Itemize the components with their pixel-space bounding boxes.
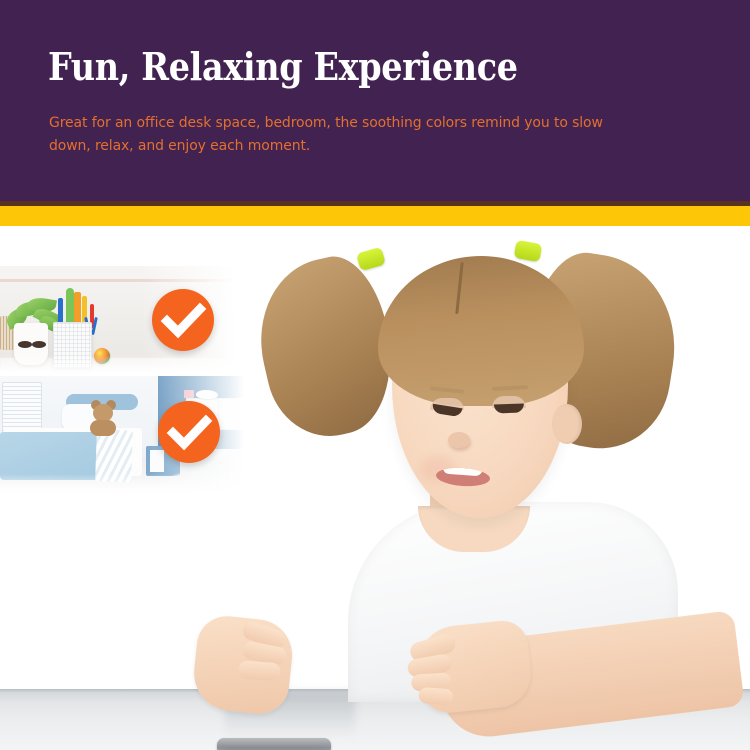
- photo-stage: [0, 226, 750, 750]
- ear: [552, 404, 582, 444]
- hair-tie-left: [356, 247, 386, 271]
- inset-fade-bottom: [0, 474, 272, 493]
- girl-photo: [240, 226, 750, 720]
- inset-photo-bedroom: [0, 376, 272, 493]
- header-banner: Fun, Relaxing Experience Great for an of…: [0, 0, 750, 201]
- inset-photo-office-desk: [0, 266, 262, 372]
- pot-eye-icon: [32, 341, 46, 348]
- page-title: Fun, Relaxing Experience: [48, 48, 518, 86]
- nose: [448, 432, 470, 448]
- checkmark-badge-bedroom: [158, 401, 220, 463]
- finger: [418, 687, 453, 705]
- page-subtitle: Great for an office desk space, bedroom,…: [49, 112, 631, 158]
- liquid-motion-bubbler-toy[interactable]: [215, 738, 333, 750]
- inset-fade-bottom: [0, 355, 262, 372]
- pot-eye-icon: [18, 341, 32, 348]
- teddy-bear: [88, 400, 118, 434]
- checkmark-badge-desk: [152, 289, 214, 351]
- check-icon: [158, 401, 220, 463]
- divider-gold-rule: [0, 206, 750, 226]
- product-lifestyle-banner: Fun, Relaxing Experience Great for an of…: [0, 0, 750, 750]
- hair-tie-right: [514, 240, 543, 262]
- left-hand: [190, 613, 295, 717]
- toy-cap-top: [217, 738, 331, 750]
- check-icon: [152, 289, 214, 351]
- finger: [238, 660, 281, 681]
